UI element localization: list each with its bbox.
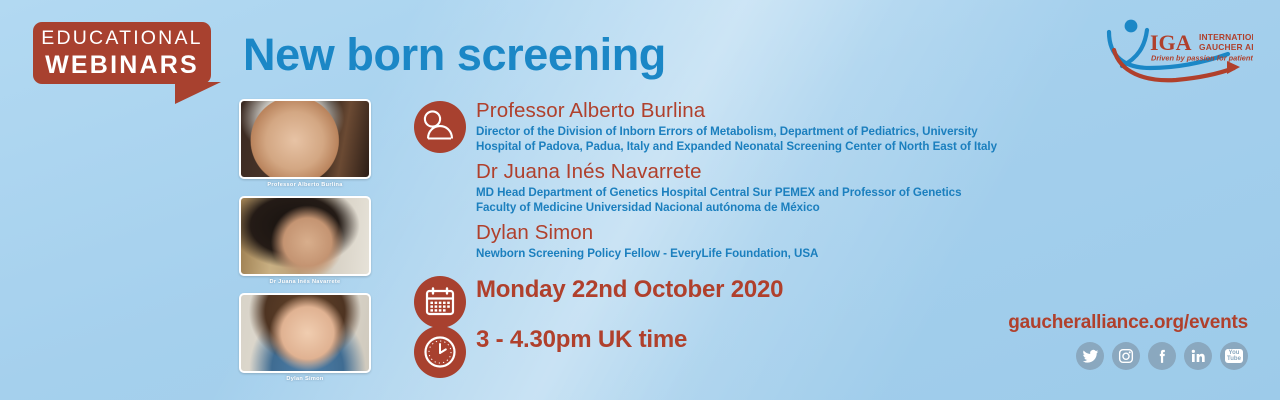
- facebook-icon[interactable]: [1148, 342, 1176, 370]
- person-icon: [414, 101, 466, 153]
- event-time: 3 - 4.30pm UK time: [476, 326, 687, 354]
- logo-org-line-2: GAUCHER ALLIANCE: [1199, 42, 1253, 52]
- page-title: New born screening: [243, 29, 666, 81]
- photo-caption-dylan-simon: Dylan Simon: [239, 376, 371, 382]
- speaker-item: Professor Alberto Burlina Director of th…: [476, 99, 1054, 154]
- speaker-role: Director of the Division of Inborn Error…: [476, 124, 1054, 155]
- photo-caption-juana-ines-navarrete: Dr Juana Inés Navarrete: [239, 279, 371, 285]
- linkedin-icon[interactable]: [1184, 342, 1212, 370]
- photo-alberto-burlina: [239, 99, 371, 179]
- website-url[interactable]: gaucheralliance.org/events: [1008, 312, 1248, 334]
- logo-initials: IGA: [1150, 30, 1192, 55]
- iga-logo[interactable]: IGA INTERNATIONAL GAUCHER ALLIANCE Drive…: [1098, 16, 1253, 88]
- photo-dylan-simon: [239, 293, 371, 373]
- speaker-section: Professor Alberto Burlina Director of th…: [414, 99, 1054, 267]
- speaker-role-line: Faculty of Medicine Universidad Nacional…: [476, 200, 1054, 215]
- speaker-item: Dr Juana Inés Navarrete MD Head Departme…: [476, 160, 1054, 215]
- instagram-icon[interactable]: [1112, 342, 1140, 370]
- youtube-label: You Tube: [1225, 349, 1243, 364]
- person-icon-circle: [414, 101, 466, 153]
- speaker-role-line: MD Head Department of Genetics Hospital …: [476, 185, 1054, 200]
- event-time-row: 3 - 4.30pm UK time: [414, 326, 687, 354]
- speaker-role: Newborn Screening Policy Fellow - EveryL…: [476, 246, 1054, 261]
- event-date-row: Monday 22nd October 2020: [414, 276, 783, 304]
- logo-figure-head: [1125, 20, 1138, 33]
- event-date: Monday 22nd October 2020: [476, 276, 783, 304]
- speaker-role: MD Head Department of Genetics Hospital …: [476, 185, 1054, 216]
- educational-webinars-badge: EDUCATIONAL WEBINARS: [33, 22, 211, 84]
- photo-caption-alberto-burlina: Professor Alberto Burlina: [239, 182, 371, 188]
- calendar-icon: [414, 276, 466, 328]
- speaker-role-line: Director of the Division of Inborn Error…: [476, 124, 1054, 139]
- speaker-role-line: Newborn Screening Policy Fellow - EveryL…: [476, 246, 1054, 261]
- twitter-icon[interactable]: [1076, 342, 1104, 370]
- webinar-banner: EDUCATIONAL WEBINARS New born screening …: [0, 0, 1280, 400]
- speaker-list: Professor Alberto Burlina Director of th…: [476, 99, 1054, 261]
- logo-tagline: Driven by passion for patients: [1151, 54, 1253, 63]
- logo-org-line-1: INTERNATIONAL: [1199, 32, 1253, 42]
- youtube-label-bottom: Tube: [1227, 356, 1241, 362]
- speaker-photo-column: Professor Alberto Burlina Dr Juana Inés …: [239, 99, 371, 390]
- speaker-name: Dylan Simon: [476, 221, 1054, 245]
- speech-bubble-tail: [175, 82, 221, 104]
- clock-icon: [414, 326, 466, 378]
- badge-line-2: WEBINARS: [33, 53, 211, 78]
- speaker-role-line: Hospital of Padova, Padua, Italy and Exp…: [476, 139, 1054, 154]
- social-links: You Tube: [1076, 342, 1248, 370]
- badge-line-1: EDUCATIONAL: [33, 29, 211, 49]
- speaker-item: Dylan Simon Newborn Screening Policy Fel…: [476, 221, 1054, 261]
- speaker-name: Dr Juana Inés Navarrete: [476, 160, 1054, 184]
- photo-juana-ines-navarrete: [239, 196, 371, 276]
- youtube-label-top: You: [1229, 350, 1240, 356]
- speaker-name: Professor Alberto Burlina: [476, 99, 1054, 123]
- youtube-icon[interactable]: You Tube: [1220, 342, 1248, 370]
